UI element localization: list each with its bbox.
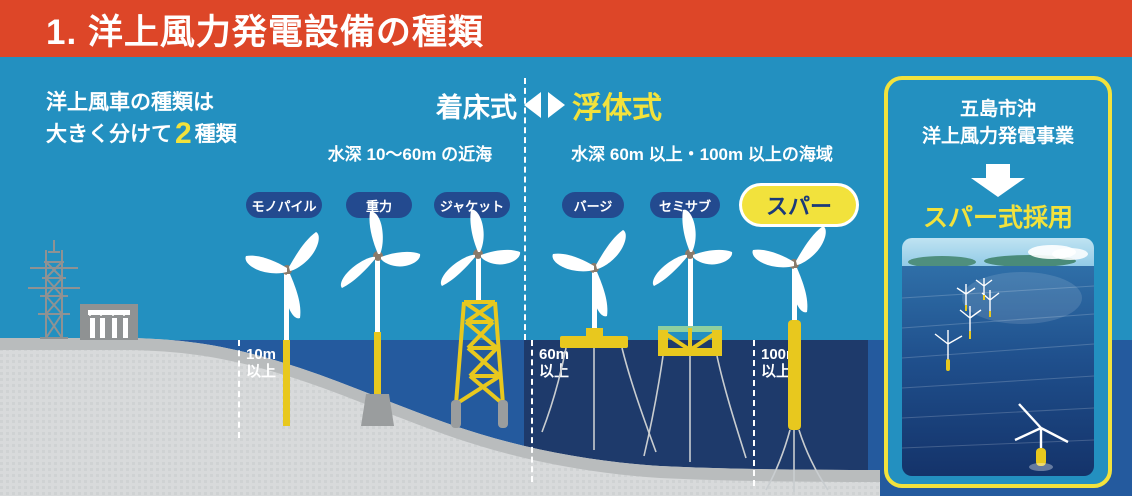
infographic-root: 1. 洋上風力発電設備の種類 洋上風車の種類は 大きく分けて2種類 着床式 浮体…	[0, 0, 1132, 496]
turbine-spar	[753, 226, 829, 492]
turbine-semisub	[644, 210, 746, 462]
turbine-gravity	[341, 212, 420, 426]
transmission-tower-icon	[28, 240, 80, 338]
turbine-jacket	[441, 210, 520, 428]
case-study-panel: 五島市沖 洋上風力発電事業 スパー式採用	[884, 76, 1112, 488]
panel-title-line2: 洋上風力発電事業	[888, 123, 1108, 150]
panel-subtitle: スパー式採用	[888, 198, 1108, 234]
turbine-barge	[542, 230, 656, 452]
panel-title-line1: 五島市沖	[888, 96, 1108, 123]
floating-wind-farm-photo	[902, 238, 1094, 476]
turbine-monopile	[246, 232, 319, 426]
down-arrow-icon	[970, 164, 1026, 198]
panel-title: 五島市沖 洋上風力発電事業	[888, 96, 1108, 150]
substation-building-icon	[80, 304, 138, 340]
